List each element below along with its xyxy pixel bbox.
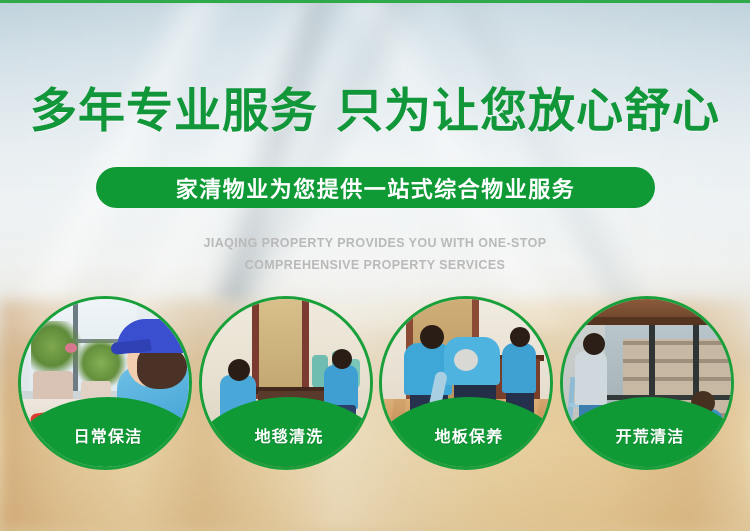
promo-banner: 多年专业服务只为让您放心舒心 家清物业为您提供一站式综合物业服务 JIAQING… [0, 0, 750, 531]
service-circle-floor-maintenance[interactable]: 地板保养 [379, 296, 553, 470]
service-circle-daily-cleaning[interactable]: 日常保洁 [18, 296, 192, 470]
service-circle-carpet-washing[interactable]: 地毯清洗 [199, 296, 373, 470]
service-circle-row: 日常保洁 地毯清洗 [0, 0, 750, 531]
service-label: 日常保洁 [74, 423, 143, 447]
service-label: 地毯清洗 [255, 423, 324, 447]
service-label: 地板保养 [435, 423, 504, 447]
service-label: 开荒清洁 [616, 423, 685, 447]
service-circle-rough-cleaning[interactable]: 开荒清洁 [560, 296, 734, 470]
